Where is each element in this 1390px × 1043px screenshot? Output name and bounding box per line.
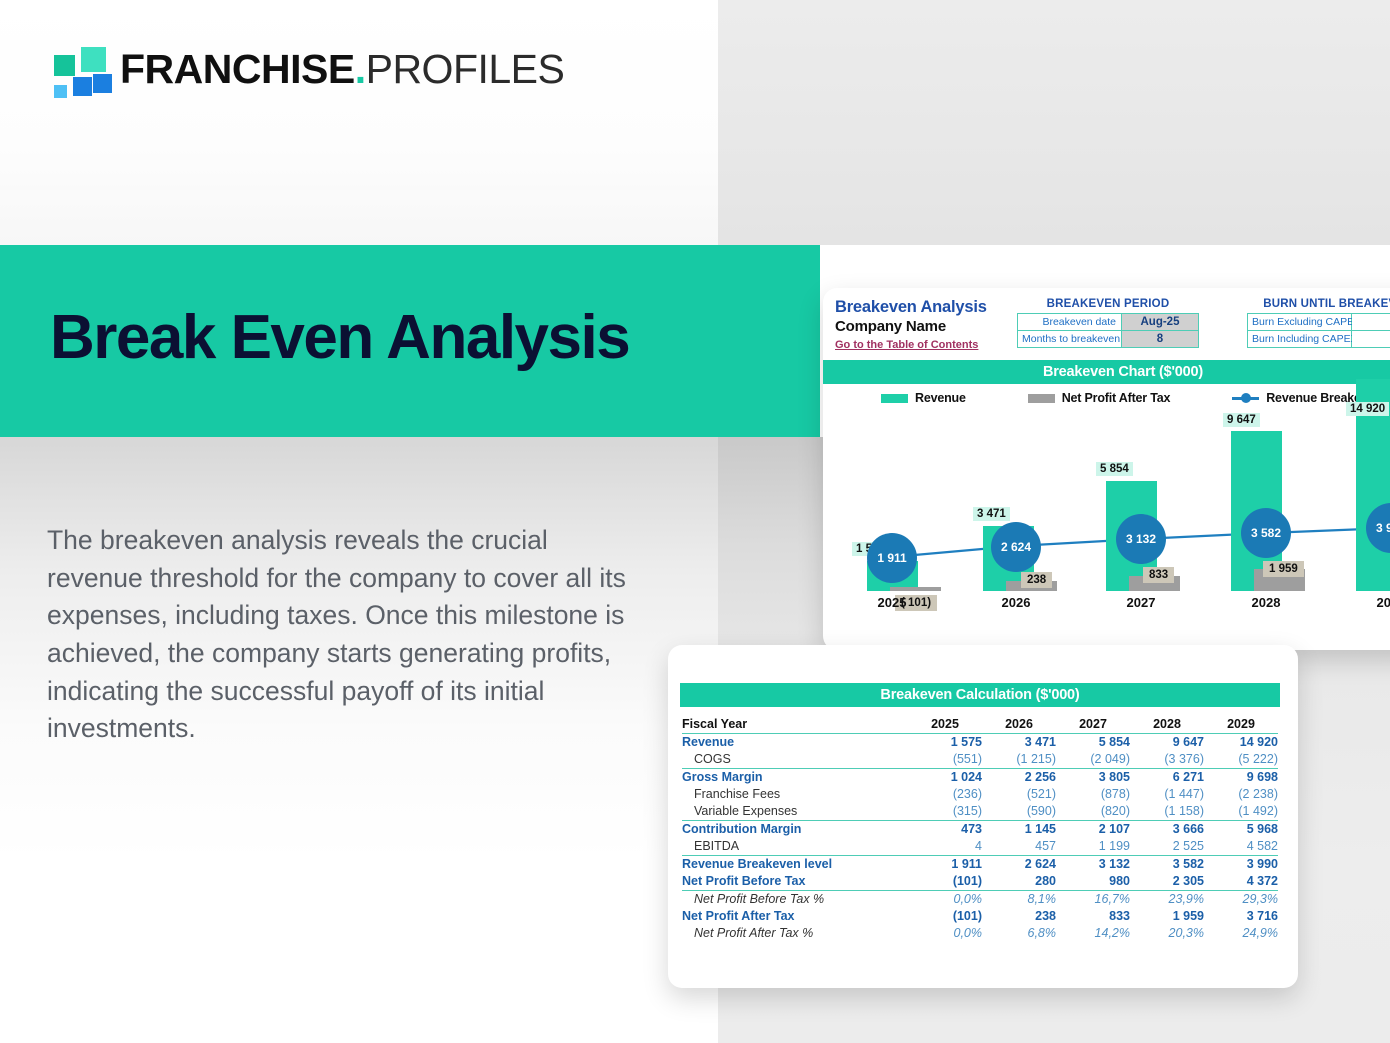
table-cell-2028: 23,9%	[1130, 890, 1204, 908]
table-cell-2028: 1 959	[1130, 908, 1204, 925]
label-npat-2026: 238	[1021, 572, 1052, 588]
table-cell-2026: 2 256	[982, 768, 1056, 786]
hero-description: The breakeven analysis reveals the cruci…	[47, 522, 627, 748]
table-cell-2029: 3 990	[1204, 855, 1278, 873]
table-cell-2029: 9 698	[1204, 768, 1278, 786]
legend-label-npat: Net Profit After Tax	[1062, 391, 1171, 405]
table-cell-2029: 29,3%	[1204, 890, 1278, 908]
table-cell-2026: 6,8%	[982, 925, 1056, 942]
table-cell-2027: 5 854	[1056, 733, 1130, 751]
chart-plot-area: 1 575 ( 101) 1 911 3 471 238 2 624 5 854…	[823, 409, 1390, 617]
table-cell-2028: 6 271	[1130, 768, 1204, 786]
table-cell-2025: 1 911	[908, 855, 982, 873]
breakeven-date-value[interactable]: Aug-25	[1122, 314, 1198, 330]
table-row: Net Profit Before Tax %0,0%8,1%16,7%23,9…	[682, 890, 1278, 908]
label-npat-2028: 1 959	[1263, 561, 1304, 577]
label-revenue-2029: 14 920	[1346, 402, 1389, 416]
burn-excluding-capex-row: Burn Excluding CAPEX	[1247, 313, 1390, 330]
table-header-year-2027: 2027	[1056, 715, 1130, 733]
logo-wordmark: FRANCHISE.PROFILES	[120, 49, 564, 90]
brand-logo[interactable]: FRANCHISE.PROFILES	[46, 44, 564, 94]
chart-header-titles: Breakeven Analysis Company Name Go to th…	[835, 298, 987, 353]
label-revenue-2027: 5 854	[1096, 462, 1133, 476]
table-row-label: Gross Margin	[682, 768, 908, 786]
bubble-breakeven-2025[interactable]: 1 911	[867, 533, 917, 583]
legend-swatch-npat-icon	[1028, 394, 1055, 403]
table-cell-2029: 5 968	[1204, 820, 1278, 838]
table-cell-2029: (2 238)	[1204, 786, 1278, 803]
logo-square-blue-right	[93, 74, 112, 93]
table-cell-2027: 14,2%	[1056, 925, 1130, 942]
legend-swatch-revenue-icon	[881, 394, 908, 403]
burn-including-capex-value[interactable]	[1352, 331, 1390, 347]
burn-including-capex-label: Burn Including CAPEX	[1248, 331, 1352, 347]
table-row-label: Net Profit Before Tax	[682, 873, 908, 890]
logo-square-mint	[81, 47, 106, 72]
logo-word-profiles: PROFILES	[366, 46, 565, 92]
table-cell-2026: 2 624	[982, 855, 1056, 873]
breakeven-calculation-table: Fiscal Year20252026202720282029Revenue1 …	[682, 715, 1278, 942]
legend-item-revenue[interactable]: Revenue	[881, 391, 966, 405]
table-cell-2027: 1 199	[1056, 838, 1130, 855]
breakeven-period-heading: BREAKEVEN PERIOD	[1017, 298, 1199, 310]
table-row: Revenue1 5753 4715 8549 64714 920	[682, 733, 1278, 751]
logo-square-lightblue	[54, 85, 67, 98]
logo-squares-icon	[46, 44, 106, 94]
burn-until-breakeven-group: BURN UNTIL BREAKEVEN Burn Excluding CAPE…	[1247, 298, 1390, 348]
table-cell-2026: 238	[982, 908, 1056, 925]
table-cell-2028: 3 666	[1130, 820, 1204, 838]
table-cell-2028: 20,3%	[1130, 925, 1204, 942]
table-cell-2025: 4	[908, 838, 982, 855]
table-row-label: Net Profit After Tax %	[682, 925, 908, 942]
table-cell-2026: 8,1%	[982, 890, 1056, 908]
table-header-year-2025: 2025	[908, 715, 982, 733]
table-band-title: Breakeven Calculation ($'000)	[680, 683, 1280, 707]
burn-excluding-capex-label: Burn Excluding CAPEX	[1248, 314, 1352, 330]
breakeven-calculation-card: Breakeven Calculation ($'000) Fiscal Yea…	[668, 645, 1298, 988]
table-cell-2029: (1 492)	[1204, 803, 1278, 820]
table-header-year-2028: 2028	[1130, 715, 1204, 733]
table-row: Variable Expenses(315)(590)(820)(1 158)(…	[682, 803, 1278, 820]
table-cell-2027: (820)	[1056, 803, 1130, 820]
table-cell-2026: 280	[982, 873, 1056, 890]
x-label-2029: 2029	[1377, 595, 1390, 610]
table-cell-2029: 4 372	[1204, 873, 1278, 890]
months-to-breakeven-value[interactable]: 8	[1122, 331, 1198, 347]
table-row-label: Net Profit After Tax	[682, 908, 908, 925]
background-panel-top-left	[0, 0, 718, 245]
table-cell-2025: (236)	[908, 786, 982, 803]
table-cell-2025: 1 024	[908, 768, 982, 786]
table-row: EBITDA44571 1992 5254 582	[682, 838, 1278, 855]
table-row: COGS(551)(1 215)(2 049)(3 376)(5 222)	[682, 751, 1278, 768]
table-cell-2028: (1 158)	[1130, 803, 1204, 820]
table-header-year-2029: 2029	[1204, 715, 1278, 733]
breakeven-period-group: BREAKEVEN PERIOD Breakeven date Aug-25 M…	[1017, 298, 1199, 348]
table-cell-2028: (1 447)	[1130, 786, 1204, 803]
months-to-breakeven-row: Months to breakeven 8	[1017, 330, 1199, 348]
table-header-fiscal-year: Fiscal Year	[682, 715, 908, 733]
table-cell-2028: 9 647	[1130, 733, 1204, 751]
chart-card-header: Breakeven Analysis Company Name Go to th…	[823, 288, 1390, 360]
breakeven-period-table: Breakeven date Aug-25 Months to breakeve…	[1017, 313, 1199, 348]
chart-title: Breakeven Analysis	[835, 298, 987, 317]
breakeven-table-wrapper: Breakeven Calculation ($'000) Fiscal Yea…	[668, 645, 1298, 942]
table-cell-2028: 2 305	[1130, 873, 1204, 890]
table-cell-2027: (2 049)	[1056, 751, 1130, 768]
bar-npat-2025[interactable]	[890, 587, 941, 591]
table-cell-2028: 3 582	[1130, 855, 1204, 873]
table-row-label: COGS	[682, 751, 908, 768]
logo-word-franchise: FRANCHISE	[120, 46, 355, 92]
table-cell-2027: 980	[1056, 873, 1130, 890]
table-cell-2025: 0,0%	[908, 925, 982, 942]
table-cell-2027: (878)	[1056, 786, 1130, 803]
bubble-breakeven-2026[interactable]: 2 624	[991, 522, 1041, 572]
table-cell-2026: (590)	[982, 803, 1056, 820]
label-revenue-2028: 9 647	[1223, 413, 1260, 427]
breakeven-date-label: Breakeven date	[1018, 314, 1122, 330]
table-row: Net Profit Before Tax(101)2809802 3054 3…	[682, 873, 1278, 890]
chart-x-axis-labels: 2025 2026 2027 2028 2029	[823, 595, 1390, 615]
table-cell-2026: 457	[982, 838, 1056, 855]
table-row: Franchise Fees(236)(521)(878)(1 447)(2 2…	[682, 786, 1278, 803]
table-cell-2025: (315)	[908, 803, 982, 820]
legend-label-revenue: Revenue	[915, 391, 966, 405]
table-cell-2025: (101)	[908, 908, 982, 925]
table-cell-2026: (521)	[982, 786, 1056, 803]
table-of-contents-link[interactable]: Go to the Table of Contents	[835, 339, 978, 351]
table-row-label: Revenue	[682, 733, 908, 751]
table-cell-2025: (101)	[908, 873, 982, 890]
logo-dot: .	[355, 46, 366, 92]
table-cell-2028: 2 525	[1130, 838, 1204, 855]
table-row: Contribution Margin4731 1452 1073 6665 9…	[682, 820, 1278, 838]
table-row-label: Revenue Breakeven level	[682, 855, 908, 873]
table-row-label: Contribution Margin	[682, 820, 908, 838]
table-cell-2027: 3 805	[1056, 768, 1130, 786]
logo-square-blue-center	[73, 77, 92, 96]
breakeven-date-row: Breakeven date Aug-25	[1017, 313, 1199, 330]
table-cell-2026: (1 215)	[982, 751, 1056, 768]
page-title: Break Even Analysis	[50, 305, 629, 371]
table-row-label: Variable Expenses	[682, 803, 908, 820]
bubble-breakeven-2027[interactable]: 3 132	[1116, 514, 1166, 564]
table-cell-2029: 24,9%	[1204, 925, 1278, 942]
label-revenue-2026: 3 471	[973, 507, 1010, 521]
chart-company-name: Company Name	[835, 318, 987, 335]
burn-until-breakeven-heading: BURN UNTIL BREAKEVEN	[1247, 298, 1390, 310]
table-cell-2029: 3 716	[1204, 908, 1278, 925]
label-npat-2027: 833	[1143, 567, 1174, 583]
table-cell-2025: 1 575	[908, 733, 982, 751]
x-label-2026: 2026	[1002, 595, 1031, 610]
table-row: Gross Margin1 0242 2563 8056 2719 698	[682, 768, 1278, 786]
x-label-2027: 2027	[1127, 595, 1156, 610]
table-cell-2029: 4 582	[1204, 838, 1278, 855]
table-cell-2028: (3 376)	[1130, 751, 1204, 768]
table-cell-2026: 1 145	[982, 820, 1056, 838]
table-cell-2025: 473	[908, 820, 982, 838]
table-row-label: EBITDA	[682, 838, 908, 855]
burn-excluding-capex-value[interactable]	[1352, 314, 1390, 330]
slide-canvas: FRANCHISE.PROFILES Break Even Analysis T…	[0, 0, 1390, 1043]
table-cell-2027: 16,7%	[1056, 890, 1130, 908]
chart-header-row: Breakeven Analysis Company Name Go to th…	[835, 298, 1390, 360]
months-to-breakeven-label: Months to breakeven	[1018, 331, 1122, 347]
breakeven-chart-card: Breakeven Analysis Company Name Go to th…	[823, 288, 1390, 650]
table-cell-2025: (551)	[908, 751, 982, 768]
burn-until-breakeven-table: Burn Excluding CAPEX Burn Including CAPE…	[1247, 313, 1390, 348]
table-row-label: Net Profit Before Tax %	[682, 890, 908, 908]
table-cell-2027: 2 107	[1056, 820, 1130, 838]
bubble-breakeven-2028[interactable]: 3 582	[1241, 508, 1291, 558]
chart-legend: Revenue Net Profit After Tax Revenue Bre…	[823, 384, 1390, 407]
table-header-row: Fiscal Year20252026202720282029	[682, 715, 1278, 733]
table-row: Revenue Breakeven level1 9112 6243 1323 …	[682, 855, 1278, 873]
legend-swatch-line-icon	[1232, 397, 1259, 400]
table-cell-2027: 833	[1056, 908, 1130, 925]
x-label-2028: 2028	[1252, 595, 1281, 610]
table-cell-2029: (5 222)	[1204, 751, 1278, 768]
table-row-label: Franchise Fees	[682, 786, 908, 803]
chart-band-title: Breakeven Chart ($'000)	[823, 360, 1390, 384]
burn-including-capex-row: Burn Including CAPEX	[1247, 330, 1390, 348]
background-panel-top-right	[718, 0, 1390, 245]
legend-item-net-profit-after-tax[interactable]: Net Profit After Tax	[1028, 391, 1171, 405]
table-cell-2027: 3 132	[1056, 855, 1130, 873]
table-cell-2029: 14 920	[1204, 733, 1278, 751]
table-header-year-2026: 2026	[982, 715, 1056, 733]
table-cell-2026: 3 471	[982, 733, 1056, 751]
table-row: Net Profit After Tax(101)2388331 9593 71…	[682, 908, 1278, 925]
x-label-2025: 2025	[878, 595, 907, 610]
table-row: Net Profit After Tax %0,0%6,8%14,2%20,3%…	[682, 925, 1278, 942]
logo-square-green	[54, 55, 75, 76]
table-cell-2025: 0,0%	[908, 890, 982, 908]
